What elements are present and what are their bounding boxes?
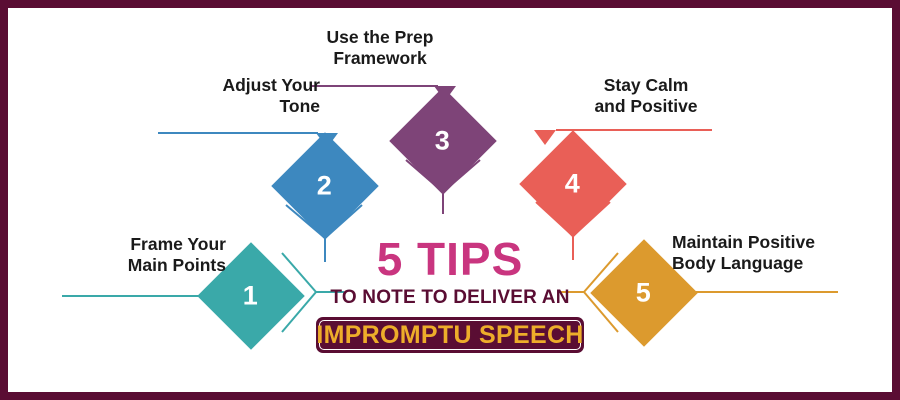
tip-label-1: Frame Your Main Points	[56, 234, 226, 275]
tip-number-1: 1	[243, 283, 258, 310]
infographic-poster: 1 2 3 4 5 Frame Your Main Points Adjust …	[0, 0, 900, 400]
tip-number-2: 2	[317, 173, 332, 200]
tip-label-4: Stay Calm and Positive	[556, 75, 736, 116]
tip-label-5: Maintain Positive Body Language	[672, 232, 862, 273]
title-main: 5 TIPS	[290, 236, 610, 282]
title-subtitle: TO NOTE TO DELIVER AN	[290, 288, 610, 307]
topic-banner: IMPROMPTU SPEECH	[316, 317, 584, 353]
topic-banner-text: IMPROMPTU SPEECH	[316, 323, 583, 348]
tip-label-3: Use the Prep Framework	[300, 27, 460, 68]
center-title-block: 5 TIPS TO NOTE TO DELIVER AN IMPROMPTU S…	[290, 236, 610, 353]
tip-number-3: 3	[435, 128, 450, 155]
tip-label-2: Adjust Your Tone	[150, 75, 320, 116]
tip-number-4: 4	[565, 171, 580, 198]
tip-number-5: 5	[636, 280, 651, 307]
